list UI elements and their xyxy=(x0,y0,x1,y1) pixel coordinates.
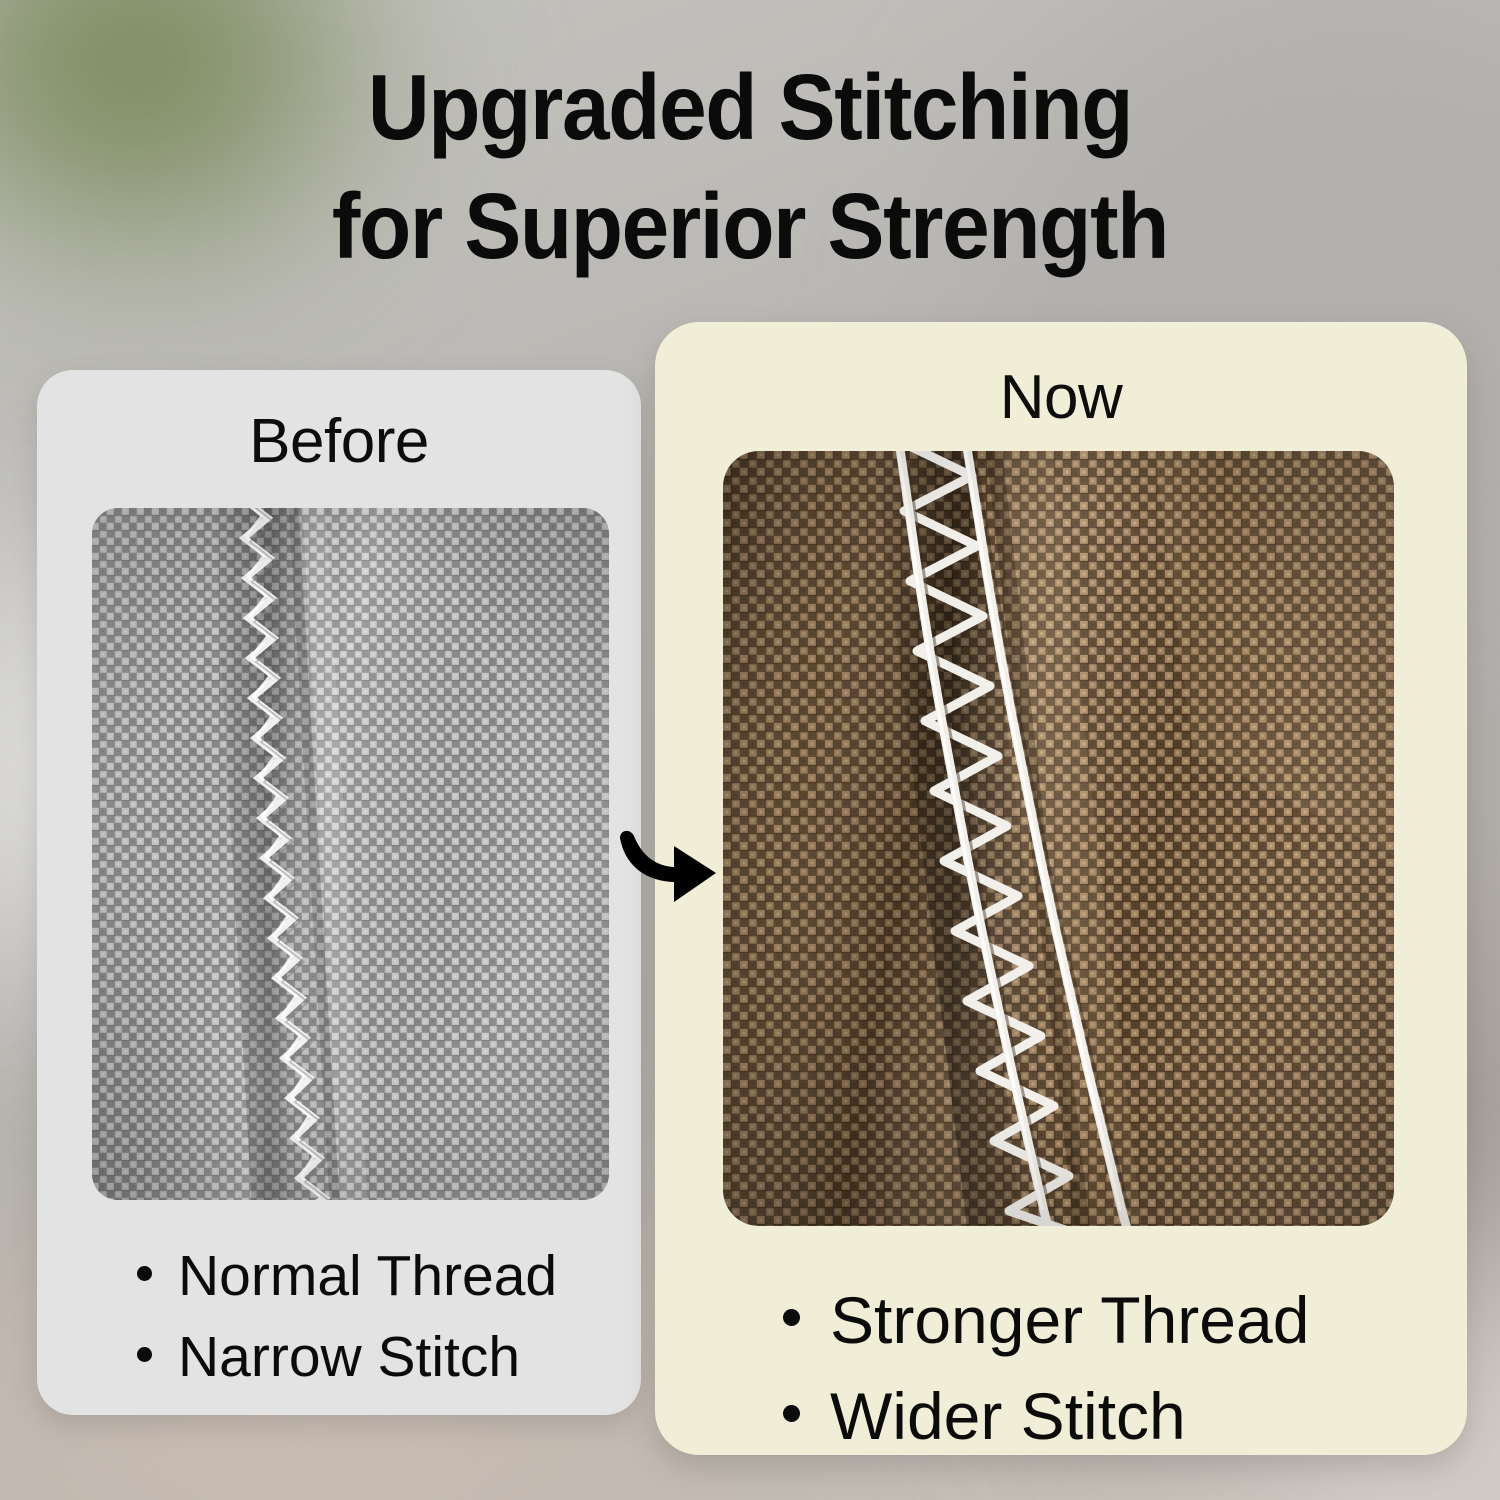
bullet-dot-icon xyxy=(783,1405,800,1422)
before-bullet-2: Narrow Stitch xyxy=(178,1317,520,1398)
before-fabric-photo xyxy=(92,508,609,1200)
now-bullet-1: Stronger Thread xyxy=(830,1272,1309,1368)
bullet-dot-icon xyxy=(137,1266,152,1281)
now-feature-list: Stronger Thread Wider Stitch xyxy=(655,1272,1467,1465)
list-item: Stronger Thread xyxy=(783,1272,1467,1368)
before-feature-list: Normal Thread Narrow Stitch xyxy=(37,1236,641,1398)
now-card: Now xyxy=(655,322,1467,1455)
bullet-dot-icon xyxy=(783,1309,800,1326)
now-card-label: Now xyxy=(655,362,1467,433)
now-bullet-2: Wider Stitch xyxy=(830,1368,1186,1464)
page-title-line-1: Upgraded Stitching xyxy=(60,48,1440,167)
before-card-label: Before xyxy=(37,406,641,477)
now-fabric-photo xyxy=(723,451,1394,1226)
list-item: Wider Stitch xyxy=(783,1368,1467,1464)
page-title: Upgraded Stitching for Superior Strength xyxy=(0,48,1500,286)
list-item: Narrow Stitch xyxy=(137,1317,641,1398)
before-bullet-1: Normal Thread xyxy=(178,1236,557,1317)
before-card: Before xyxy=(37,370,641,1415)
list-item: Normal Thread xyxy=(137,1236,641,1317)
bullet-dot-icon xyxy=(137,1347,152,1362)
page-title-line-2: for Superior Strength xyxy=(60,167,1440,286)
curved-right-arrow-icon xyxy=(612,826,720,914)
promo-graphic: Upgraded Stitching for Superior Strength… xyxy=(0,0,1500,1500)
